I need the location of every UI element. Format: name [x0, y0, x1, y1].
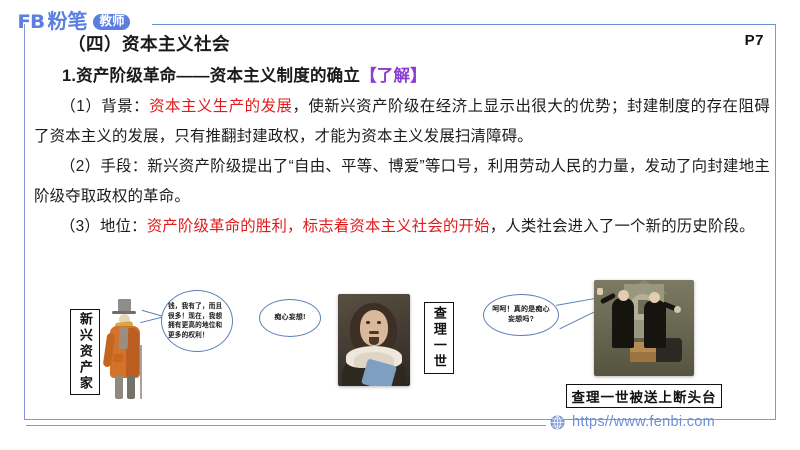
speech-bubble-reply-text: 呵呵！真的是痴心妄想吗? — [484, 305, 558, 325]
portrait-right-eye — [377, 321, 381, 324]
speech-bubble-king-text: 痴心妄想! — [268, 313, 311, 323]
logo-mark-icon: FB — [17, 13, 44, 32]
footer: https//www.fenbi.com — [550, 414, 715, 430]
reply-bubble-tail-lower — [559, 310, 598, 331]
logo-badge: 教师 — [93, 14, 130, 31]
page-number: P7 — [745, 32, 764, 49]
paragraph-background: （1）背景：资本主义生产的发展，使新兴资产阶级在经济上显示出很大的优势；封建制度… — [34, 92, 770, 152]
footer-divider-line — [26, 425, 546, 426]
speech-bubble-reply: 呵呵！真的是痴心妄想吗? — [483, 294, 559, 336]
speech-bubble-capitalist: 钱，我有了，而且很多！现在，我想拥有更高的地位和更多的权利！ — [161, 290, 233, 352]
speech-bubble-capitalist-text: 钱，我有了，而且很多！现在，我想拥有更高的地位和更多的权利！ — [162, 302, 232, 340]
left-figure-hand — [597, 288, 603, 295]
executioner-figure-right — [644, 300, 666, 348]
header-divider-line — [152, 24, 776, 25]
portrait-left-eye — [366, 321, 370, 324]
p1-highlight: 资本主义生产的发展 — [149, 98, 292, 115]
topic-heading-text: 1.资产阶级革命——资本主义制度的确立 — [62, 67, 360, 85]
p3-label: （3）地位： — [60, 218, 147, 235]
body-content: （1）背景：资本主义生产的发展，使新兴资产阶级在经济上显示出很大的优势；封建制度… — [34, 92, 770, 242]
label-box-capitalist: 新兴资产家 — [70, 309, 100, 395]
left-figure-head — [618, 290, 629, 301]
portrait-moustache — [369, 331, 379, 334]
executioner-figure-left — [612, 298, 634, 348]
right-figure-head — [649, 292, 660, 303]
p3-highlight: 资产阶级革命的胜利，标志着资本主义社会的开始 — [147, 218, 490, 235]
cane-shape — [140, 345, 142, 399]
p2-label: （2）手段： — [60, 158, 147, 175]
slide-root: FB 粉笔 教师 P7 （四）资本主义社会 1.资产阶级革命——资本主义制度的确… — [0, 0, 800, 450]
caption-box-execution: 查理一世被送上断头台 — [566, 384, 722, 408]
pocket-shape — [113, 354, 123, 362]
right-leg-shape — [127, 375, 135, 399]
footer-url-text[interactable]: https//www.fenbi.com — [572, 414, 715, 430]
globe-icon — [550, 415, 565, 430]
speech-bubble-king: 痴心妄想! — [259, 299, 321, 337]
execution-block-shade — [630, 352, 656, 362]
label-box-charles: 查理一世 — [424, 302, 454, 374]
lapel-shape — [119, 327, 129, 349]
execution-scene-image — [594, 280, 694, 376]
illustration-area: 新兴资产家 钱，我有了，而且很多！现在，我想拥有更高的地位和更多的权利！ 痴心妄… — [0, 275, 800, 415]
right-figure-hand — [674, 306, 681, 313]
bourgeois-man-figure — [104, 299, 150, 399]
p1-label: （1）背景： — [60, 98, 149, 115]
topic-heading: 1.资产阶级革命——资本主义制度的确立【了解】 — [62, 62, 427, 86]
paragraph-status: （3）地位：资产阶级革命的胜利，标志着资本主义社会的开始，人类社会进入了一个新的… — [34, 212, 770, 242]
paragraph-means: （2）手段：新兴资产阶级提出了“自由、平等、博爱”等口号，利用劳动人民的力量，发… — [34, 152, 770, 212]
section-heading: （四）资本主义社会 — [68, 31, 230, 56]
p3-rest: ，人类社会进入了一个新的历史阶段。 — [490, 218, 755, 235]
left-leg-shape — [115, 375, 123, 399]
charles-i-portrait — [338, 294, 410, 386]
logo-wordmark: 粉笔 — [47, 12, 87, 32]
portrait-beard — [369, 337, 379, 345]
topic-tag: 【了解】 — [360, 67, 427, 85]
